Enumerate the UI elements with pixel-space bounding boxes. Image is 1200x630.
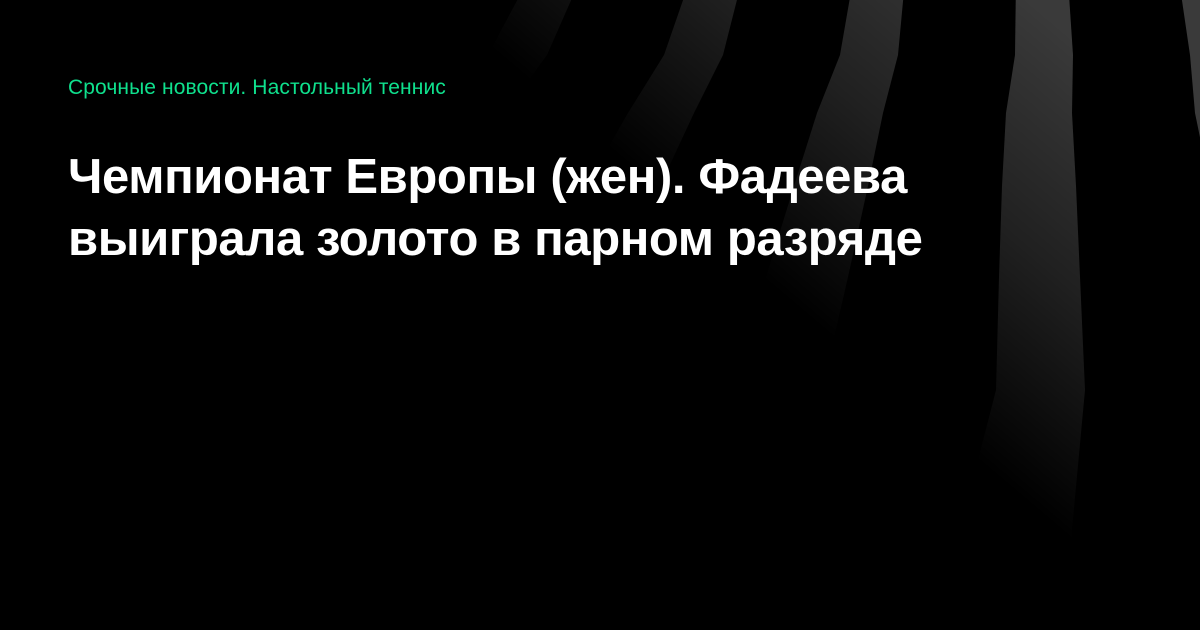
headline-line-2: выиграла золото в парном разряде	[68, 208, 922, 270]
text-block: Срочные новости. Настольный теннис Чемпи…	[68, 74, 922, 270]
headline-line-1: Чемпионат Европы (жен). Фадеева	[68, 146, 922, 208]
share-card: Срочные новости. Настольный теннис Чемпи…	[0, 0, 1200, 630]
page-title: Чемпионат Европы (жен). Фадеева выиграла…	[68, 146, 922, 270]
kicker-label: Срочные новости. Настольный теннис	[68, 74, 922, 102]
